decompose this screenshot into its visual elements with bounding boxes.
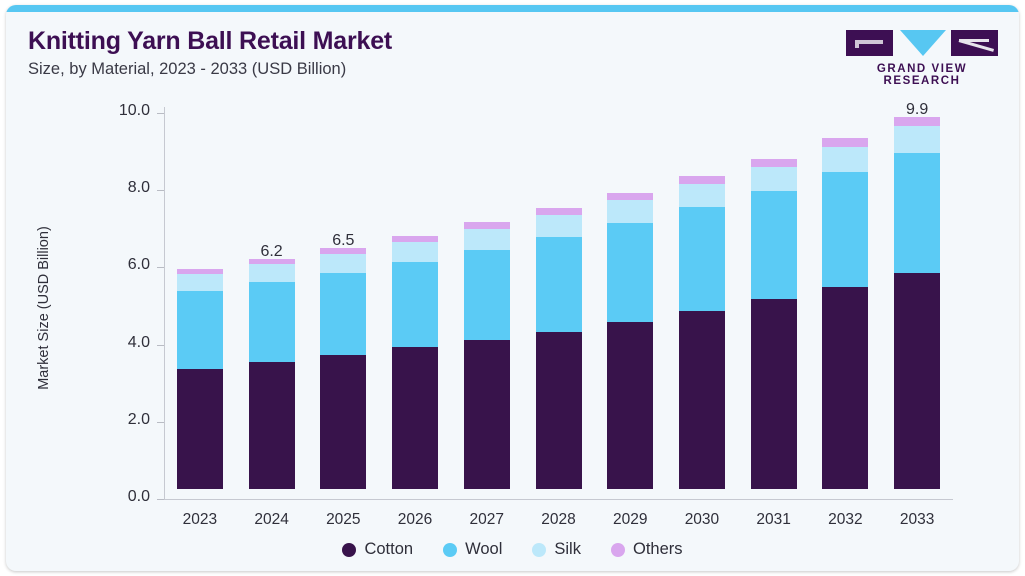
bar-group[interactable]	[464, 103, 510, 489]
bar-group[interactable]	[320, 103, 366, 489]
bar-segment-others[interactable]	[536, 208, 582, 215]
legend-item-wool[interactable]: Wool	[443, 540, 502, 559]
bar-segment-wool[interactable]	[894, 153, 940, 273]
y-axis-tick-label: 2.0	[94, 411, 150, 429]
bar-segment-silk[interactable]	[536, 215, 582, 237]
x-axis-tick-label: 2024	[236, 511, 308, 529]
legend-swatch-icon	[443, 543, 457, 557]
x-axis-tick-label: 2028	[523, 511, 595, 529]
stacked-bar[interactable]	[536, 208, 582, 489]
y-axis-tick-mark	[157, 345, 164, 346]
bar-segment-silk[interactable]	[320, 254, 366, 273]
bar-segment-silk[interactable]	[679, 184, 725, 207]
y-axis-tick-mark	[157, 113, 164, 114]
x-axis-tick-label: 2023	[164, 511, 236, 529]
x-axis-tick-label: 2026	[379, 511, 451, 529]
stacked-bar[interactable]	[679, 176, 725, 489]
x-axis-tick-label: 2030	[666, 511, 738, 529]
x-axis-tick-label: 2025	[307, 511, 379, 529]
bar-segment-silk[interactable]	[249, 264, 295, 282]
bar-segment-others[interactable]	[751, 159, 797, 167]
bar-segment-wool[interactable]	[392, 262, 438, 348]
bar-group[interactable]	[751, 103, 797, 489]
bar-segment-cotton[interactable]	[536, 332, 582, 489]
bar-segment-silk[interactable]	[894, 126, 940, 153]
y-axis-tick-label: 8.0	[94, 179, 150, 197]
bar-segment-cotton[interactable]	[392, 347, 438, 489]
y-axis-tick-label: 10.0	[94, 102, 150, 120]
bar-value-label: 6.2	[260, 243, 282, 261]
bar-segment-cotton[interactable]	[177, 369, 223, 489]
legend-swatch-icon	[342, 543, 356, 557]
legend-item-others[interactable]: Others	[611, 540, 683, 559]
bar-group[interactable]	[177, 103, 223, 489]
bar-segment-silk[interactable]	[822, 147, 868, 172]
legend-label: Silk	[554, 540, 581, 559]
bar-value-label: 6.5	[332, 232, 354, 250]
legend-label: Others	[633, 540, 683, 559]
y-axis-tick-mark	[157, 422, 164, 423]
x-axis-tick-label: 2032	[810, 511, 882, 529]
stacked-bar[interactable]	[607, 193, 653, 489]
y-axis-tick-label: 4.0	[94, 334, 150, 352]
x-axis-tick-label: 2033	[881, 511, 953, 529]
bar-group[interactable]	[536, 103, 582, 489]
x-axis-tick-label: 2031	[738, 511, 810, 529]
bar-group[interactable]	[607, 103, 653, 489]
chart-plot-area: Market Size (USD Billion) 0.02.04.06.08.…	[6, 5, 1019, 571]
bar-segment-cotton[interactable]	[679, 311, 725, 489]
bar-segment-cotton[interactable]	[822, 287, 868, 489]
legend-swatch-icon	[532, 543, 546, 557]
stacked-bar[interactable]	[464, 222, 510, 489]
bar-segment-wool[interactable]	[751, 191, 797, 299]
bar-segment-wool[interactable]	[177, 291, 223, 368]
legend-swatch-icon	[611, 543, 625, 557]
stacked-bar[interactable]	[751, 159, 797, 489]
bar-group[interactable]	[822, 103, 868, 489]
stacked-bar[interactable]	[249, 259, 295, 489]
legend-item-cotton[interactable]: Cotton	[342, 540, 413, 559]
bar-value-label: 9.9	[906, 101, 928, 119]
y-axis-tick-mark	[157, 190, 164, 191]
legend-label: Cotton	[364, 540, 413, 559]
bar-segment-wool[interactable]	[822, 172, 868, 287]
bar-segment-others[interactable]	[679, 176, 725, 184]
bar-segment-silk[interactable]	[392, 242, 438, 262]
bar-segment-wool[interactable]	[320, 273, 366, 355]
bar-segment-silk[interactable]	[464, 229, 510, 250]
bar-group[interactable]	[679, 103, 725, 489]
bar-segment-cotton[interactable]	[464, 340, 510, 489]
bar-segment-cotton[interactable]	[320, 355, 366, 489]
bar-segment-silk[interactable]	[607, 200, 653, 222]
x-axis-line	[164, 499, 953, 500]
bar-segment-cotton[interactable]	[751, 299, 797, 489]
y-axis-line	[164, 107, 165, 500]
stacked-bar[interactable]	[894, 117, 940, 489]
bar-segment-silk[interactable]	[751, 167, 797, 191]
legend-item-silk[interactable]: Silk	[532, 540, 581, 559]
y-axis-tick-label: 6.0	[94, 256, 150, 274]
y-axis-tick-mark	[157, 499, 164, 500]
bar-segment-wool[interactable]	[679, 207, 725, 311]
bar-group[interactable]	[894, 103, 940, 489]
y-axis-tick-mark	[157, 267, 164, 268]
stacked-bar[interactable]	[392, 236, 438, 489]
stacked-bar[interactable]	[320, 248, 366, 489]
x-axis-tick-label: 2027	[451, 511, 523, 529]
bar-segment-wool[interactable]	[249, 282, 295, 362]
stacked-bar[interactable]	[822, 138, 868, 489]
bar-segment-silk[interactable]	[177, 274, 223, 292]
y-axis-tick-label: 0.0	[94, 488, 150, 506]
bar-segment-cotton[interactable]	[249, 362, 295, 489]
stacked-bar[interactable]	[177, 269, 223, 489]
legend-label: Wool	[465, 540, 502, 559]
bar-segment-others[interactable]	[822, 138, 868, 147]
bar-segment-cotton[interactable]	[894, 273, 940, 489]
bar-segment-cotton[interactable]	[607, 322, 653, 489]
bar-segment-wool[interactable]	[607, 223, 653, 322]
chart-legend: CottonWoolSilkOthers	[6, 540, 1019, 559]
bar-segment-wool[interactable]	[464, 250, 510, 340]
bar-segment-others[interactable]	[607, 193, 653, 200]
bar-segment-wool[interactable]	[536, 237, 582, 332]
y-axis-title: Market Size (USD Billion)	[36, 158, 52, 458]
bar-group[interactable]	[249, 103, 295, 489]
bar-group[interactable]	[392, 103, 438, 489]
x-axis-tick-label: 2029	[594, 511, 666, 529]
chart-card: Knitting Yarn Ball Retail Market Size, b…	[6, 5, 1019, 571]
